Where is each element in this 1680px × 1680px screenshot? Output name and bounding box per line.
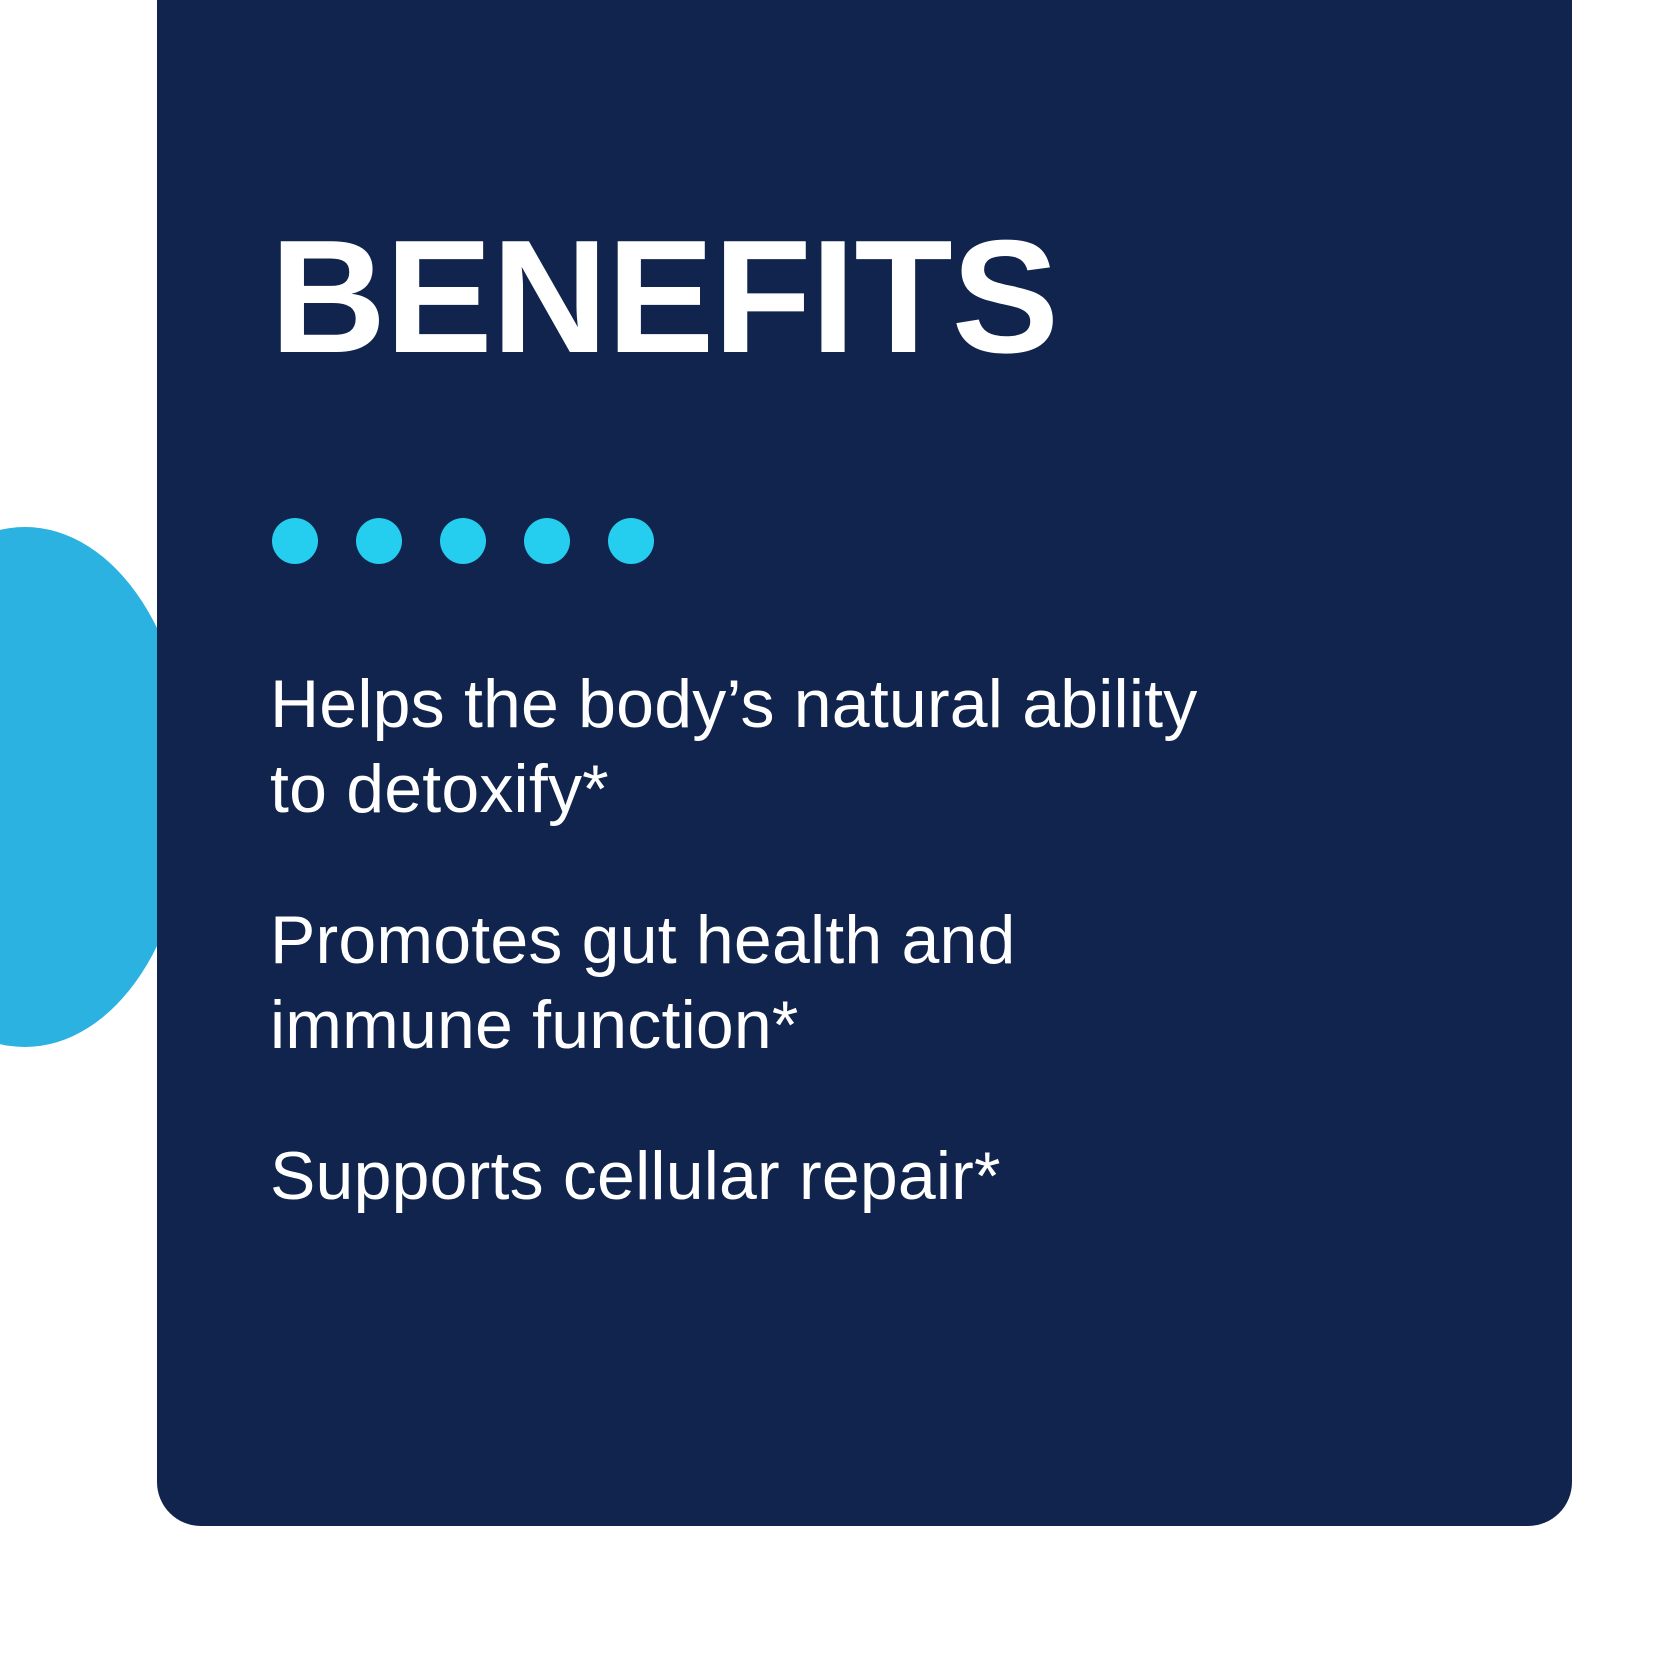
- page-title: BENEFITS: [270, 217, 1058, 378]
- benefits-card: BENEFITS Helps the body’s natural abilit…: [157, 0, 1572, 1526]
- dot-icon: [356, 518, 402, 564]
- dot-icon: [608, 518, 654, 564]
- dot-icon: [524, 518, 570, 564]
- benefits-card-content: BENEFITS Helps the body’s natural abilit…: [270, 0, 1512, 1526]
- benefits-list: Helps the body’s natural ability to deto…: [270, 662, 1260, 1219]
- dot-icon: [272, 518, 318, 564]
- benefit-item: Promotes gut health and immune function*: [270, 898, 1260, 1068]
- benefit-item: Supports cellular repair*: [270, 1134, 1260, 1219]
- dot-icon: [440, 518, 486, 564]
- benefit-item: Helps the body’s natural ability to deto…: [270, 662, 1260, 832]
- benefits-card-graphic: BENEFITS Helps the body’s natural abilit…: [0, 0, 1680, 1680]
- dot-row-decoration: [272, 518, 654, 564]
